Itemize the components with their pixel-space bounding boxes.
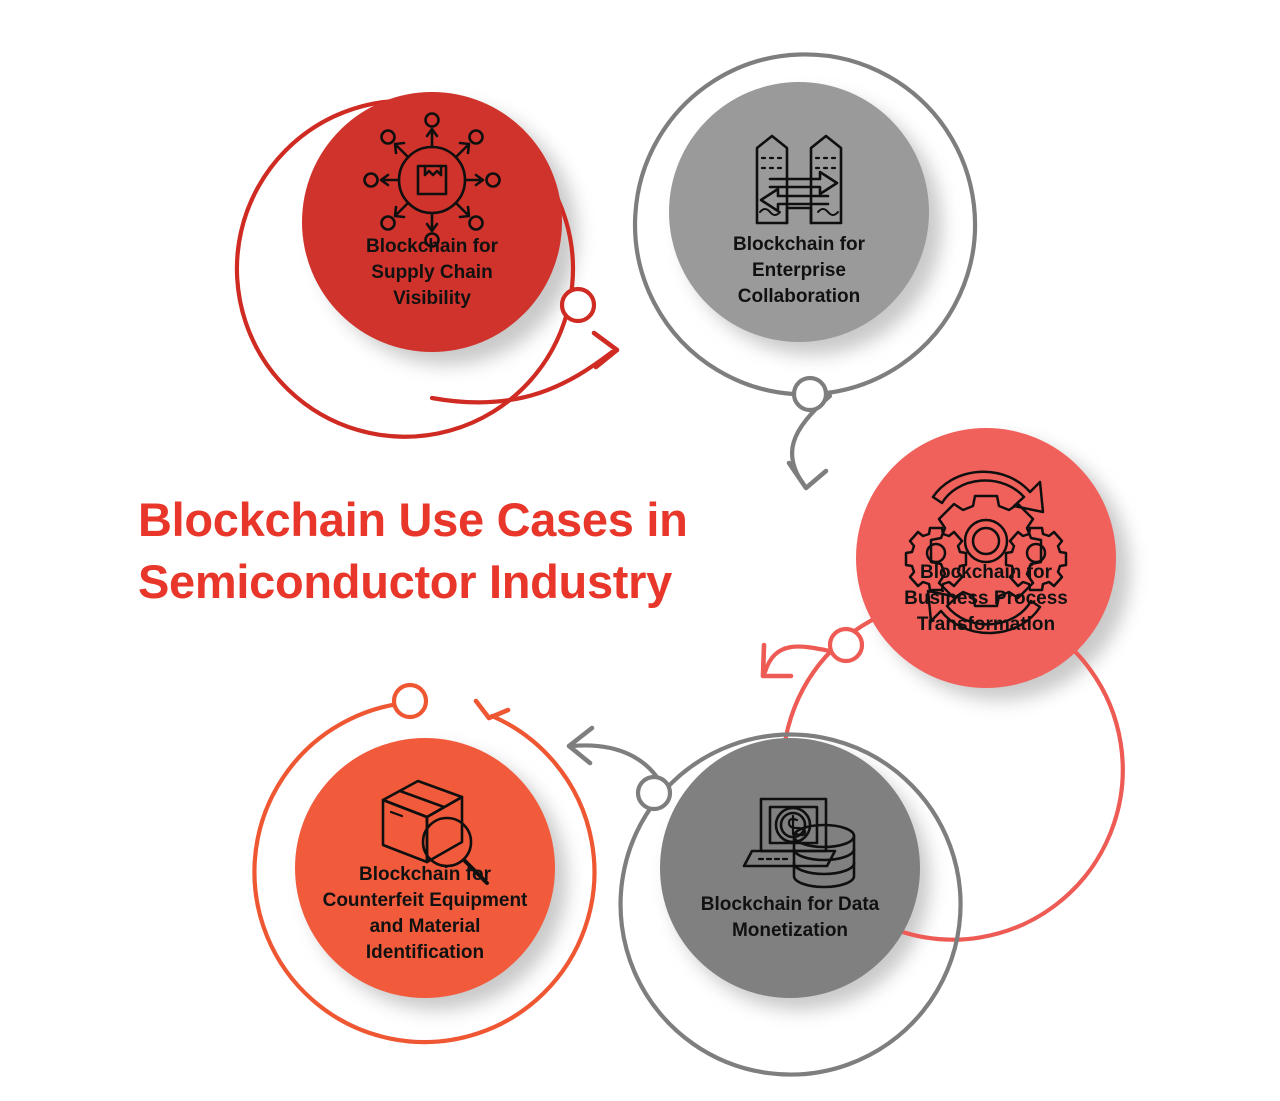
node-label-line: Blockchain for (366, 236, 499, 257)
node-enterprise-collaboration[interactable]: Blockchain for Enterprise Collaboration (669, 82, 929, 342)
node-label-line: Blockchain for Data (701, 894, 880, 915)
node-label-line: Business Process (904, 588, 1068, 609)
node-label-line: Enterprise (752, 260, 846, 281)
infographic-canvas: Blockchain for Supply Chain Visibility (0, 0, 1280, 1101)
node-business-process-transformation[interactable]: Blockchain for Business Process Transfor… (856, 428, 1116, 688)
node-label-line: Monetization (732, 920, 848, 941)
page-title: Blockchain Use Cases in Semiconductor In… (138, 493, 688, 608)
node-label-line: Collaboration (738, 286, 860, 307)
node-data-monetization[interactable]: Blockchain for Data Monetization (660, 738, 920, 998)
connector-node-dot (638, 777, 670, 809)
arrowhead-up-left (476, 701, 508, 718)
node-disc[interactable] (856, 428, 1116, 688)
node-label-line: Blockchain for (359, 864, 492, 885)
node-label-line: Visibility (393, 288, 471, 309)
node-supply-chain-visibility[interactable]: Blockchain for Supply Chain Visibility (302, 92, 562, 352)
node-label-line: Supply Chain (371, 262, 492, 283)
node-label-line: Transformation (917, 614, 1055, 635)
title-line-1: Blockchain Use Cases in (138, 493, 688, 546)
node-counterfeit-identification[interactable]: Blockchain for Counterfeit Equipment and… (295, 738, 555, 998)
node-label-line: Identification (366, 942, 484, 963)
node-label-line: and Material (370, 916, 481, 937)
connector-node-dot (830, 629, 862, 661)
node-label-line: Counterfeit Equipment (323, 890, 528, 911)
node-label-line: Blockchain for (920, 562, 1053, 583)
connector-node-dot (562, 289, 594, 321)
node-disc[interactable] (660, 738, 920, 998)
node-label-line: Blockchain for (733, 234, 866, 255)
infographic-svg: Blockchain for Supply Chain Visibility (0, 0, 1280, 1101)
connector-node-dot (794, 378, 826, 410)
connector-node-dot (394, 685, 426, 717)
title-line-2: Semiconductor Industry (138, 555, 672, 608)
